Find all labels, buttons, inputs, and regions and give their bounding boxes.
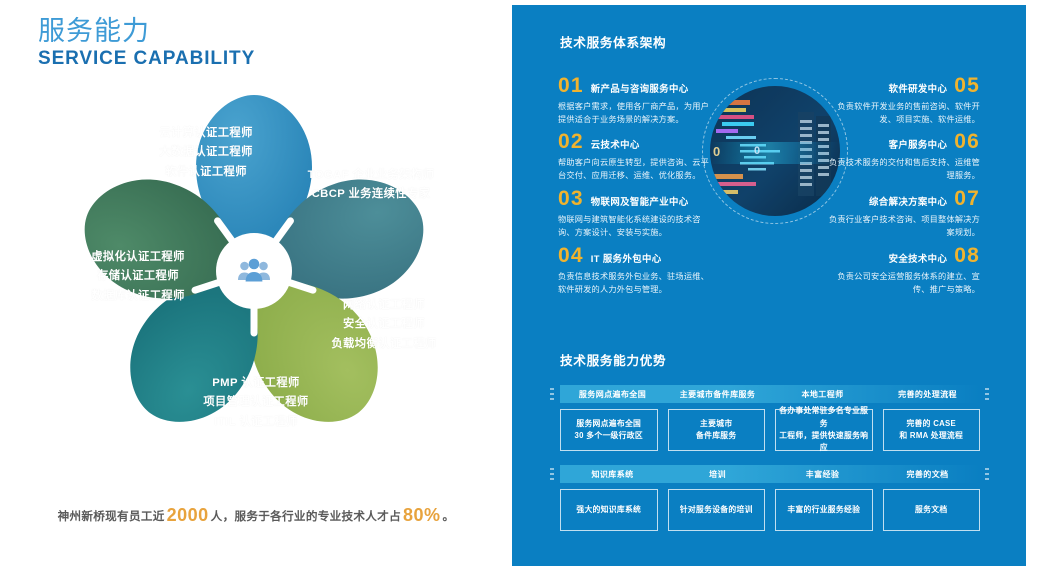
advantage-cell-line: 各办事处常驻多名专业服务 xyxy=(776,405,872,430)
decoration-dots-right xyxy=(985,468,990,480)
arch-desc: 负责行业客户技术咨询、项目整体解决方案规划。 xyxy=(828,213,980,240)
data-center-photo-circle: 0 0 xyxy=(702,78,848,224)
server-room-illustration: 0 0 xyxy=(710,86,840,216)
advantage-table-row-2: 知识库系统 培训 丰富经验 完善的文档 强大的知识库系统 针对服务设备的培训 丰… xyxy=(560,465,980,531)
advantage-header-row: 服务网点遍布全国 主要城市备件库服务 本地工程师 完善的处理流程 xyxy=(560,385,980,403)
decoration-dots-right xyxy=(985,388,990,400)
advantage-cell-line: 服务文档 xyxy=(915,504,947,516)
architecture-item-04: 04 IT 服务外包中心 负责信息技术服务外包业务、驻场运维、软件研发的人力外包… xyxy=(558,245,710,297)
advantage-cell-line: 完善的 CASE xyxy=(906,418,956,430)
advantage-header-cell: 丰富经验 xyxy=(770,465,875,483)
decoration-dots-left xyxy=(550,468,555,480)
capability-flower-diagram: 云计算认证工程师 大数据认证工程师 软件认证工程师 TOGAF 企业业务架构师 … xyxy=(18,88,498,478)
arch-number: 01 xyxy=(558,75,584,96)
right-blue-panel: 技术服务体系架构 xyxy=(512,5,1026,566)
advantage-cell-line: 主要城市 xyxy=(700,418,732,430)
arch-number: 07 xyxy=(954,188,980,209)
architecture-item-08: 安全技术中心 08 负责公司安全运营服务体系的建立、宣传、推广与策略。 xyxy=(828,245,980,297)
employee-footnote: 神州新桥现有员工近2000人，服务于各行业的专业技术人才占80%。 xyxy=(0,505,512,526)
arch-number: 04 xyxy=(558,245,584,266)
arch-desc: 帮助客户向云原生转型，提供咨询、云平台交付、应用迁移、运维、优化服务。 xyxy=(558,156,710,183)
arch-desc: 负责信息技术服务外包业务、驻场运维、软件研发的人力外包与管理。 xyxy=(558,270,710,297)
arch-desc: 负责技术服务的交付和售后支持、运维管理服务。 xyxy=(828,156,980,183)
footnote-number-percent: 80% xyxy=(401,505,443,525)
arch-number: 08 xyxy=(954,245,980,266)
advantage-cell-line: 丰富的行业服务经验 xyxy=(787,504,860,516)
left-section: 服务能力 SERVICE CAPABILITY xyxy=(0,0,512,576)
arch-title: 综合解决方案中心 xyxy=(869,194,947,208)
advantage-cell-line: 备件库服务 xyxy=(696,430,736,442)
advantage-cell: 各办事处常驻多名专业服务 工程师，提供快速服务响应 xyxy=(775,409,873,451)
footnote-part2: 人，服务于各行业的专业技术人才占 xyxy=(211,510,401,523)
advantage-cell-line: 工程师，提供快速服务响应 xyxy=(776,430,872,455)
slide-canvas: 服务能力 SERVICE CAPABILITY xyxy=(0,0,1041,576)
architecture-heading: 技术服务体系架构 xyxy=(560,32,666,51)
arch-title: IT 服务外包中心 xyxy=(591,251,662,265)
page-title-cn: 服务能力 xyxy=(38,16,255,47)
footnote-number-employees: 2000 xyxy=(165,505,211,525)
arch-number: 06 xyxy=(954,131,980,152)
advantages-heading: 技术服务能力优势 xyxy=(560,350,666,369)
arch-title: 云技术中心 xyxy=(591,137,640,151)
arch-number: 05 xyxy=(954,75,980,96)
advantage-cell-line: 和 RMA 处理流程 xyxy=(899,430,963,442)
advantage-cell: 主要城市 备件库服务 xyxy=(668,409,766,451)
advantage-header-cell: 完善的文档 xyxy=(875,465,980,483)
advantage-cell: 服务文档 xyxy=(883,489,981,531)
advantage-header-row: 知识库系统 培训 丰富经验 完善的文档 xyxy=(560,465,980,483)
advantage-cell: 强大的知识库系统 xyxy=(560,489,658,531)
arch-title: 物联网及智能产业中心 xyxy=(591,194,689,208)
footnote-part1: 神州新桥现有员工近 xyxy=(58,510,165,523)
footnote-part3: 。 xyxy=(443,510,455,523)
advantage-cell-line: 30 多个一级行政区 xyxy=(575,430,643,442)
arch-title: 安全技术中心 xyxy=(889,251,948,265)
advantage-header-cell: 培训 xyxy=(665,465,770,483)
architecture-item-05: 软件研发中心 05 负责软件开发业务的售前咨询、软件开发、项目实施、软件运维。 xyxy=(828,75,980,127)
data-center-photo: 0 0 xyxy=(710,86,840,216)
arch-title: 客户服务中心 xyxy=(889,137,948,151)
advantage-header-cell: 知识库系统 xyxy=(560,465,665,483)
arch-desc: 物联网与建筑智能化系统建设的技术咨询、方案设计、安装与实施。 xyxy=(558,213,710,240)
architecture-item-02: 02 云技术中心 帮助客户向云原生转型，提供咨询、云平台交付、应用迁移、运维、优… xyxy=(558,131,710,183)
arch-title: 新产品与咨询服务中心 xyxy=(591,81,689,95)
advantage-header-cell: 主要城市备件库服务 xyxy=(665,385,770,403)
advantage-cell: 针对服务设备的培训 xyxy=(668,489,766,531)
advantage-table-row-1: 服务网点遍布全国 主要城市备件库服务 本地工程师 完善的处理流程 服务网点遍布全… xyxy=(560,385,980,451)
arch-title: 软件研发中心 xyxy=(889,81,948,95)
advantage-body-row: 服务网点遍布全国 30 多个一级行政区 主要城市 备件库服务 各办事处常驻多名专… xyxy=(560,409,980,451)
arch-desc: 负责软件开发业务的售前咨询、软件开发、项目实施、软件运维。 xyxy=(828,100,980,127)
arch-desc: 负责公司安全运营服务体系的建立、宣传、推广与策略。 xyxy=(828,270,980,297)
advantage-cell: 完善的 CASE 和 RMA 处理流程 xyxy=(883,409,981,451)
advantage-cell-line: 服务网点遍布全国 xyxy=(576,418,641,430)
advantage-body-row: 强大的知识库系统 针对服务设备的培训 丰富的行业服务经验 服务文档 xyxy=(560,489,980,531)
advantage-header-cell: 服务网点遍布全国 xyxy=(560,385,665,403)
architecture-item-06: 客户服务中心 06 负责技术服务的交付和售后支持、运维管理服务。 xyxy=(828,131,980,183)
advantage-cell-line: 针对服务设备的培训 xyxy=(680,504,753,516)
people-group-icon xyxy=(237,258,271,284)
architecture-item-03: 03 物联网及智能产业中心 物联网与建筑智能化系统建设的技术咨询、方案设计、安装… xyxy=(558,188,710,240)
advantage-header-cell: 完善的处理流程 xyxy=(875,385,980,403)
page-title-en: SERVICE CAPABILITY xyxy=(38,48,255,70)
advantage-cell-line: 强大的知识库系统 xyxy=(576,504,641,516)
flower-hub xyxy=(217,234,291,308)
architecture-item-07: 综合解决方案中心 07 负责行业客户技术咨询、项目整体解决方案规划。 xyxy=(828,188,980,240)
advantage-header-cell: 本地工程师 xyxy=(770,385,875,403)
advantage-cell: 丰富的行业服务经验 xyxy=(775,489,873,531)
arch-number: 03 xyxy=(558,188,584,209)
page-title: 服务能力 SERVICE CAPABILITY xyxy=(38,16,255,70)
architecture-item-01: 01 新产品与咨询服务中心 根据客户需求，使用各厂商产品，为用户提供适合于业务场… xyxy=(558,75,710,127)
arch-desc: 根据客户需求，使用各厂商产品，为用户提供适合于业务场景的解决方案。 xyxy=(558,100,710,127)
advantage-cell: 服务网点遍布全国 30 多个一级行政区 xyxy=(560,409,658,451)
decoration-dots-left xyxy=(550,388,555,400)
arch-number: 02 xyxy=(558,131,584,152)
